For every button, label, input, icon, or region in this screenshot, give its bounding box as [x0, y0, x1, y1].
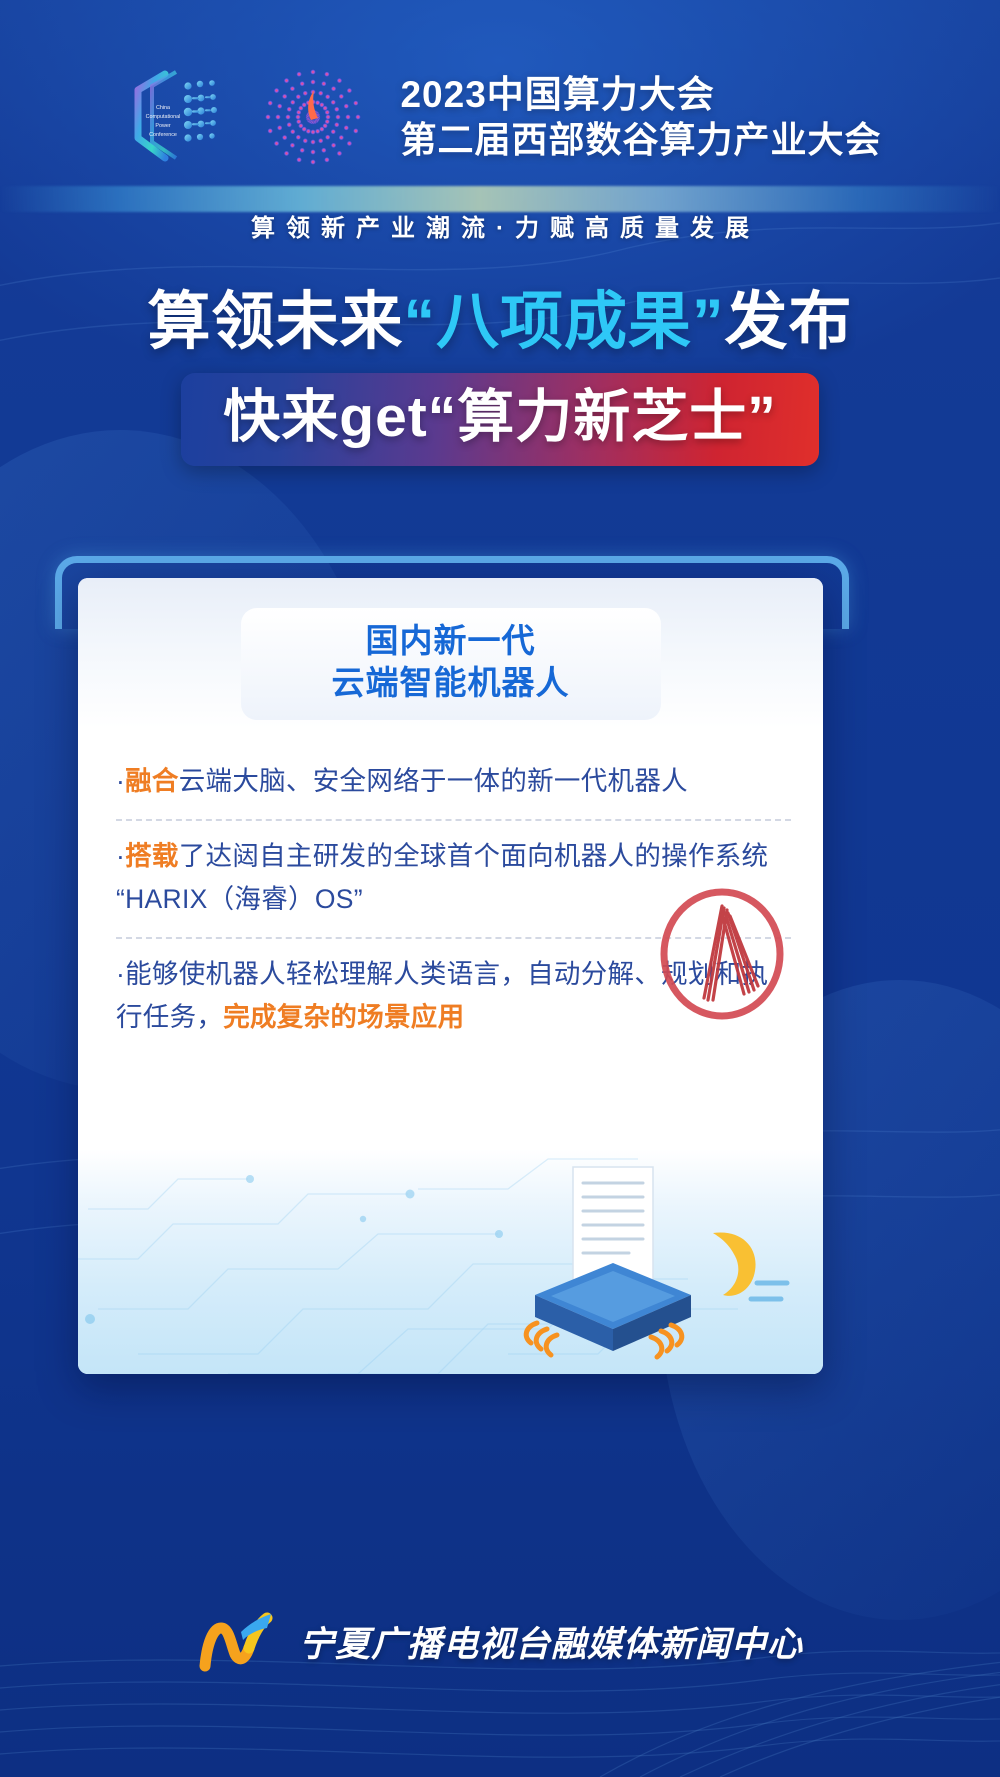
headline-line2-text: 快来get“算力新芝士”	[223, 385, 777, 449]
slogan-band: 算领新产业潮流·力赋高质量发展	[0, 186, 1000, 248]
conference-title-line1: 2023中国算力大会	[400, 74, 881, 115]
headline-line1: 算领未来“八项成果”发布	[0, 286, 1000, 359]
logo-text-china: China	[156, 105, 170, 111]
ningxia-media-n-logo	[197, 1610, 285, 1672]
radial-fan-dot-logo	[254, 58, 372, 176]
bullet-marker: ·	[116, 766, 125, 796]
slogan-text: 算领新产业潮流·力赋高质量发展	[0, 208, 1000, 243]
bullet-text: 了达闼自主研发的全球首个面向机器人的操作系统“HARIX（海睿）OS”	[116, 841, 768, 914]
bullet-list: ·融合云端大脑、安全网络于一体的新一代机器人 ·搭载了达闼自主研发的全球首个面向…	[116, 748, 791, 1053]
bullet-marker: ·	[116, 959, 125, 989]
list-item: ·搭载了达闼自主研发的全球首个面向机器人的操作系统“HARIX（海睿）OS”	[116, 823, 791, 935]
logo-text-power: Power	[156, 123, 171, 129]
bullet-divider	[116, 819, 791, 821]
headline-part-2-accent: “八项成果”	[404, 287, 725, 357]
footer-organization-name: 宁夏广播电视台融媒体新闻中心	[299, 1616, 803, 1667]
card-illustration-area	[78, 1149, 823, 1374]
card-heading-line2: 云端智能机器人	[241, 662, 661, 704]
headline-part-3: 发布	[725, 287, 853, 357]
bullet-tail-keyword: 完成复杂的场景应用	[223, 1002, 464, 1032]
bullet-text: 云端大脑、安全网络于一体的新一代机器人	[179, 766, 688, 796]
poster-header: China Computational Power Conference	[0, 0, 1000, 195]
china-computational-power-conference-logo: China Computational Power Conference	[118, 58, 236, 176]
poster-footer: 宁夏广播电视台融媒体新闻中心	[0, 1596, 1000, 1686]
bullet-keyword: 搭载	[125, 841, 179, 871]
logo-text-computational: Computational	[146, 114, 181, 120]
bullet-keyword: 融合	[125, 766, 179, 796]
bullet-divider	[116, 937, 791, 939]
main-headline: 算领未来“八项成果”发布 快来get“算力新芝士”	[0, 286, 1000, 466]
card-heading-line1: 国内新一代	[241, 620, 661, 662]
headline-line2-bar: 快来get“算力新芝士”	[181, 373, 819, 466]
conference-title: 2023中国算力大会 第二届西部数谷算力产业大会	[400, 74, 881, 160]
logo-text-conference: Conference	[150, 132, 178, 138]
card-heading-pill: 国内新一代 云端智能机器人	[241, 608, 661, 720]
isometric-document-illustration	[495, 1155, 795, 1370]
bullet-marker: ·	[116, 841, 125, 871]
list-item: ·融合云端大脑、安全网络于一体的新一代机器人	[116, 748, 791, 817]
poster-root: China Computational Power Conference	[0, 0, 1000, 1777]
conference-title-line2: 第二届西部数谷算力产业大会	[400, 120, 881, 160]
list-item: ·能够使机器人轻松理解人类语言，自动分解、规划和执行任务，完成复杂的场景应用	[116, 941, 791, 1053]
achievement-card: 国内新一代 云端智能机器人 ·融合云端大脑、安全网络于一体的新一代机器人 ·搭载…	[78, 578, 823, 1374]
headline-part-1: 算领未来	[148, 287, 404, 357]
